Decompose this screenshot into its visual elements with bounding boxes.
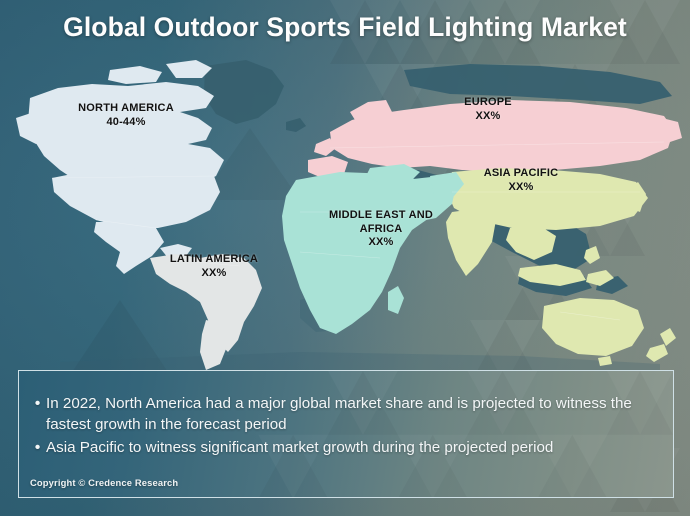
- key-insights-box: • In 2022, North America had a major glo…: [18, 370, 674, 498]
- map-label-asia-pacific-value: XX%: [452, 181, 590, 195]
- map-label-middle-east-africa-name2: AFRICA: [306, 223, 456, 237]
- bullet-glyph: •: [29, 393, 46, 435]
- map-label-latin-america-value: XX%: [140, 267, 288, 281]
- map-region-north-america: [16, 60, 224, 274]
- insight-text-2: Asia Pacific to witness significant mark…: [46, 437, 661, 458]
- list-item: • Asia Pacific to witness significant ma…: [29, 437, 661, 458]
- bullet-glyph: •: [29, 437, 46, 458]
- map-label-north-america-name: NORTH AMERICA: [46, 102, 206, 116]
- map-label-asia-pacific: ASIA PACIFIC XX%: [452, 167, 590, 194]
- map-label-latin-america-name: LATIN AMERICA: [140, 253, 288, 267]
- market-infographic: Global Outdoor Sports Field Lighting Mar…: [0, 0, 690, 516]
- map-label-europe-value: XX%: [420, 110, 556, 124]
- copyright-notice: Copyright © Credence Research: [30, 477, 178, 488]
- map-label-north-america: NORTH AMERICA 40-44%: [46, 102, 206, 129]
- list-item: • In 2022, North America had a major glo…: [29, 393, 661, 435]
- page-title: Global Outdoor Sports Field Lighting Mar…: [0, 12, 690, 43]
- map-region-asia-pacific: [446, 168, 676, 366]
- map-label-europe-name: EUROPE: [420, 96, 556, 110]
- map-label-middle-east-africa-name: MIDDLE EAST AND: [306, 209, 456, 223]
- insight-text-1: In 2022, North America had a major globa…: [46, 393, 661, 435]
- map-label-latin-america: LATIN AMERICA XX%: [140, 253, 288, 280]
- map-label-europe: EUROPE XX%: [420, 96, 556, 123]
- map-label-middle-east-africa: MIDDLE EAST AND AFRICA XX%: [306, 209, 456, 250]
- map-label-middle-east-africa-value: XX%: [306, 236, 456, 250]
- map-label-asia-pacific-name: ASIA PACIFIC: [452, 167, 590, 181]
- insight-bullet-list: • In 2022, North America had a major glo…: [29, 393, 661, 460]
- map-label-north-america-value: 40-44%: [46, 116, 206, 130]
